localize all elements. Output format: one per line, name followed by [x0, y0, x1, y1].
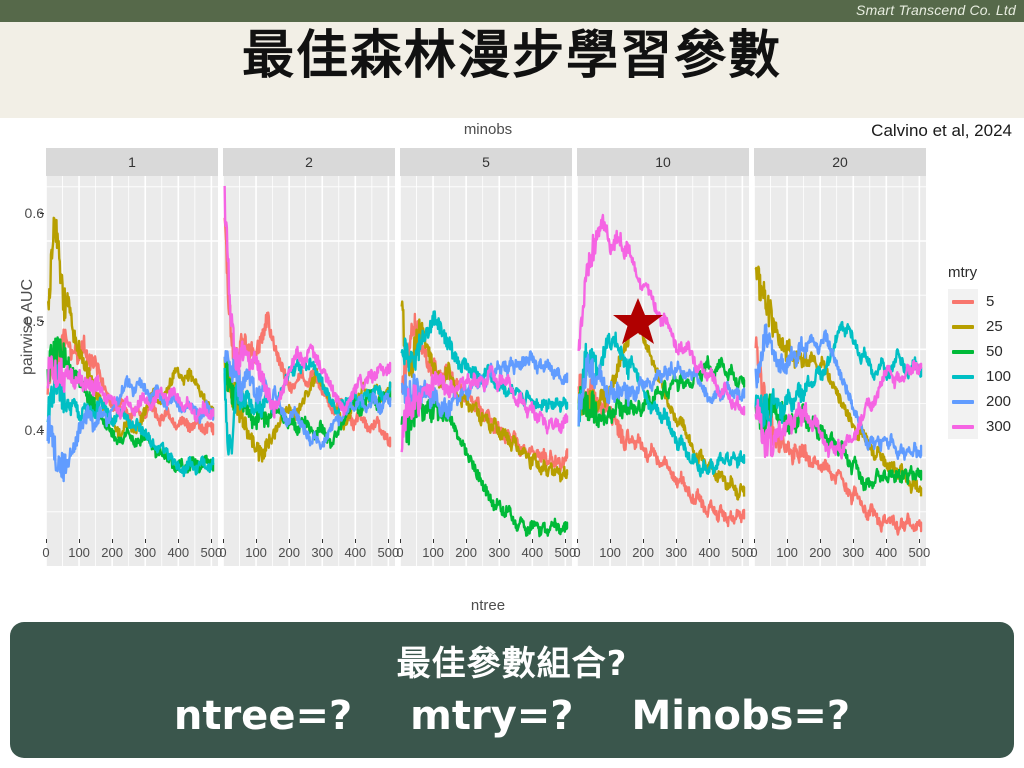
- x-tick-label: 0: [396, 545, 403, 560]
- page-title: 最佳森林漫步學習參數: [0, 30, 1024, 82]
- y-tick-mark: [40, 213, 44, 214]
- legend-label: 300: [986, 418, 1011, 435]
- plot-area: [577, 176, 749, 566]
- x-tick-label: 200: [809, 545, 831, 560]
- legend-label: 5: [986, 293, 994, 310]
- legend-label: 25: [986, 318, 1003, 335]
- y-tick-label: 0.5: [4, 313, 44, 329]
- legend-key-swatch-box: [948, 389, 978, 414]
- x-tick-mark: [754, 539, 755, 543]
- x-tick-label: 200: [632, 545, 654, 560]
- facet-panel-20: 200100200300400500: [754, 148, 926, 566]
- legend-color-swatch: [952, 350, 974, 354]
- x-tick-mark: [676, 539, 677, 543]
- x-tick-mark: [919, 539, 920, 543]
- plot-area: [46, 176, 218, 566]
- brand-name: Smart Transcend Co. Ltd: [856, 2, 1016, 18]
- plot-area: [223, 176, 395, 566]
- x-tick-mark: [577, 539, 578, 543]
- legend-key-swatch-box: [948, 289, 978, 314]
- x-tick-mark: [532, 539, 533, 543]
- x-tick-label: 400: [698, 545, 720, 560]
- best-parameter-star-icon: [612, 296, 664, 346]
- legend-title: mtry: [948, 264, 1011, 281]
- facet-panel-5: 50100200300400500: [400, 148, 572, 566]
- x-tick-mark: [499, 539, 500, 543]
- legend-key-swatch-box: [948, 364, 978, 389]
- x-tick-mark: [400, 539, 401, 543]
- answer-parameter: ntree=?: [174, 693, 352, 739]
- x-tick-mark: [643, 539, 644, 543]
- legend: mtry 52550100200300: [948, 264, 1011, 439]
- x-tick-label: 100: [245, 545, 267, 560]
- legend-color-swatch: [952, 325, 974, 329]
- x-tick-mark: [709, 539, 710, 543]
- x-tick-label: 0: [219, 545, 226, 560]
- x-tick-label: 400: [875, 545, 897, 560]
- x-tick-label: 400: [521, 545, 543, 560]
- x-tick-mark: [256, 539, 257, 543]
- y-tick-label: 0.6: [4, 205, 44, 221]
- x-tick-mark: [787, 539, 788, 543]
- legend-key-swatch-box: [948, 314, 978, 339]
- answer-question: 最佳參數組合?: [10, 622, 1014, 685]
- plot-area: [754, 176, 926, 566]
- x-tick-label: 200: [101, 545, 123, 560]
- x-tick-mark: [46, 539, 47, 543]
- slide-header-band: Smart Transcend Co. Ltd 最佳森林漫步學習參數: [0, 0, 1024, 118]
- x-tick-label: 200: [455, 545, 477, 560]
- x-tick-label: 100: [599, 545, 621, 560]
- x-tick-label: 300: [488, 545, 510, 560]
- x-tick-label: 100: [422, 545, 444, 560]
- legend-label: 50: [986, 343, 1003, 360]
- legend-label: 100: [986, 368, 1011, 385]
- facet-panel-1: 10100200300400500: [46, 148, 218, 566]
- x-tick-label: 0: [573, 545, 580, 560]
- facet-strip-label: 1: [46, 148, 218, 176]
- x-tick-mark: [79, 539, 80, 543]
- legend-item-mtry-100[interactable]: 100: [948, 364, 1011, 389]
- facet-panel-2: 20100200300400500: [223, 148, 395, 566]
- x-tick-mark: [145, 539, 146, 543]
- y-tick-mark: [40, 321, 44, 322]
- legend-key-swatch-box: [948, 339, 978, 364]
- y-tick-mark: [40, 430, 44, 431]
- x-tick-mark: [355, 539, 356, 543]
- legend-color-swatch: [952, 375, 974, 379]
- series-line-mtry-300: [48, 356, 213, 421]
- legend-color-swatch: [952, 425, 974, 429]
- x-tick-mark: [388, 539, 389, 543]
- x-tick-mark: [211, 539, 212, 543]
- legend-label: 200: [986, 393, 1011, 410]
- x-tick-mark: [610, 539, 611, 543]
- facet-variable-label: minobs: [46, 121, 930, 138]
- x-tick-label: 500: [909, 545, 931, 560]
- x-tick-label: 300: [665, 545, 687, 560]
- x-tick-mark: [742, 539, 743, 543]
- legend-item-mtry-200[interactable]: 200: [948, 389, 1011, 414]
- x-tick-label: 200: [278, 545, 300, 560]
- y-tick-label: 0.4: [4, 422, 44, 438]
- x-tick-mark: [178, 539, 179, 543]
- legend-item-mtry-50[interactable]: 50: [948, 339, 1011, 364]
- x-tick-label: 300: [134, 545, 156, 560]
- facet-strip-label: 10: [577, 148, 749, 176]
- x-tick-label: 0: [42, 545, 49, 560]
- x-tick-label: 100: [68, 545, 90, 560]
- facet-chart: minobs pairwise AUC ntree 0.40.50.6 1010…: [0, 118, 1024, 618]
- x-tick-label: 400: [167, 545, 189, 560]
- legend-item-mtry-5[interactable]: 5: [948, 289, 1011, 314]
- facet-strip-label: 5: [400, 148, 572, 176]
- x-tick-label: 300: [842, 545, 864, 560]
- x-tick-mark: [322, 539, 323, 543]
- x-tick-mark: [223, 539, 224, 543]
- answer-parameter: Minobs=?: [632, 693, 851, 739]
- x-tick-mark: [466, 539, 467, 543]
- brand-bar: Smart Transcend Co. Ltd: [0, 0, 1024, 22]
- legend-item-mtry-300[interactable]: 300: [948, 414, 1011, 439]
- plot-area: [400, 176, 572, 566]
- x-tick-label: 100: [776, 545, 798, 560]
- x-tick-mark: [820, 539, 821, 543]
- answer-parameter: mtry=?: [410, 693, 573, 739]
- x-tick-mark: [886, 539, 887, 543]
- legend-key-swatch-box: [948, 414, 978, 439]
- x-tick-label: 400: [344, 545, 366, 560]
- x-tick-mark: [433, 539, 434, 543]
- x-tick-mark: [289, 539, 290, 543]
- x-axis-label: ntree: [46, 597, 930, 614]
- x-tick-mark: [853, 539, 854, 543]
- legend-item-mtry-25[interactable]: 25: [948, 314, 1011, 339]
- answer-parameter-list: ntree=?mtry=?Minobs=?: [10, 693, 1014, 739]
- x-tick-mark: [565, 539, 566, 543]
- answer-callout-box: 最佳參數組合? ntree=?mtry=?Minobs=?: [10, 622, 1014, 758]
- facet-strip-label: 20: [754, 148, 926, 176]
- x-tick-label: 0: [750, 545, 757, 560]
- facet-panel-10: 100100200300400500: [577, 148, 749, 566]
- x-tick-mark: [112, 539, 113, 543]
- x-tick-label: 300: [311, 545, 333, 560]
- legend-entries: 52550100200300: [948, 289, 1011, 439]
- facet-strip-label: 2: [223, 148, 395, 176]
- legend-color-swatch: [952, 300, 974, 304]
- y-axis: 0.40.50.6: [0, 118, 44, 578]
- legend-color-swatch: [952, 400, 974, 404]
